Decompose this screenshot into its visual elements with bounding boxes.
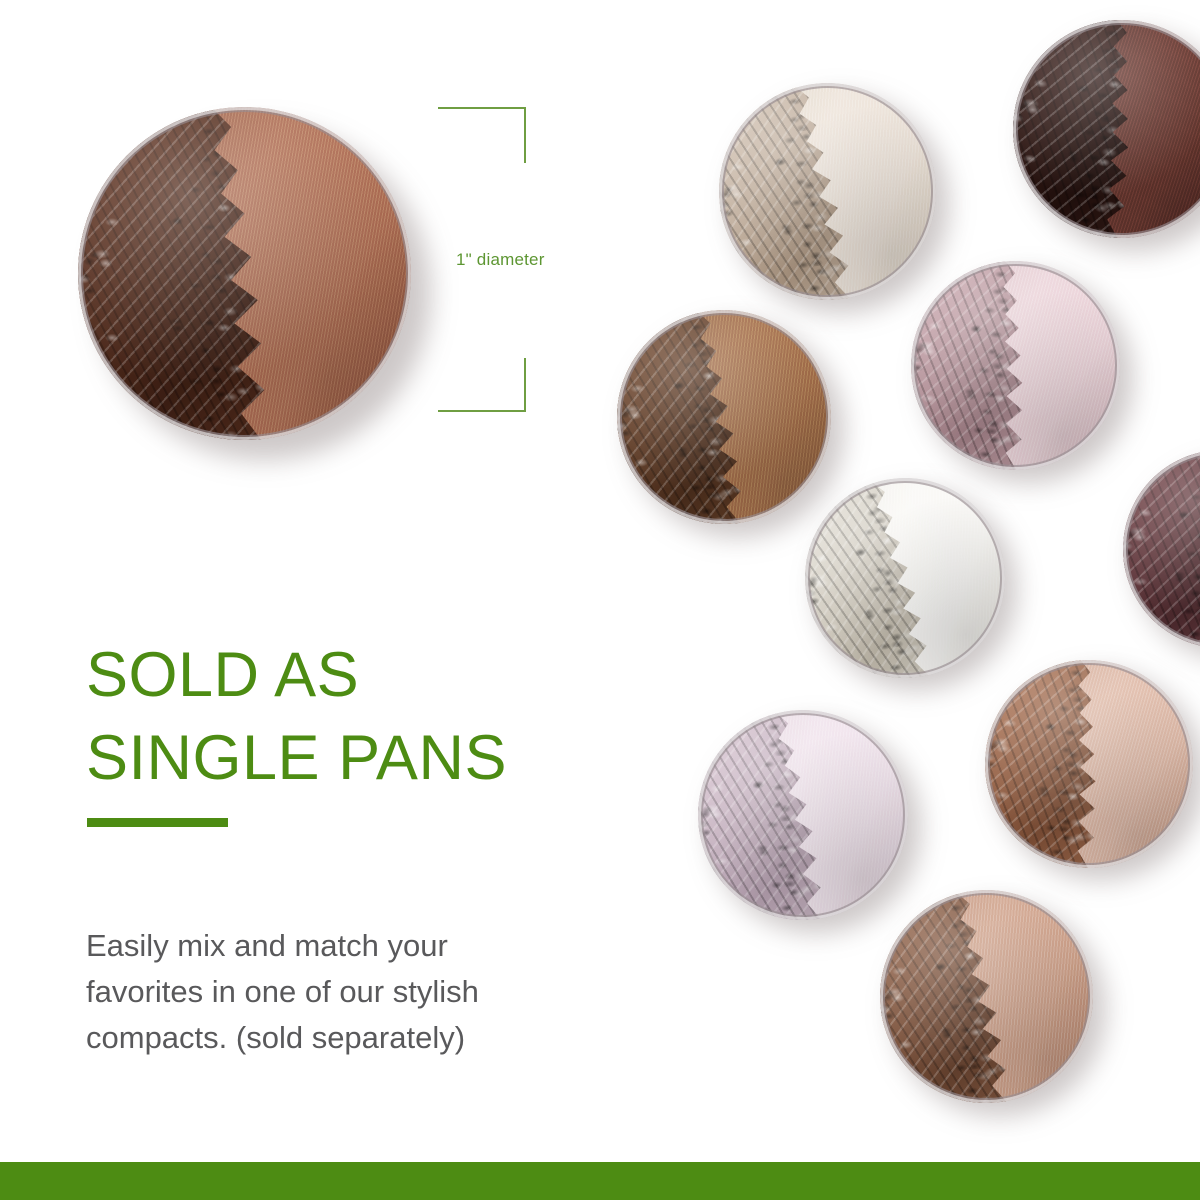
eyeshadow-pan-soft-pink [911, 261, 1120, 470]
diameter-label: 1" diameter [456, 250, 545, 270]
pan-disc [1116, 443, 1200, 654]
eyeshadow-pan-pale-lilac [698, 710, 908, 920]
eyeshadow-pan-mauve-maroon-shimmer [1123, 450, 1200, 648]
eyeshadow-pan-dark-chocolate-burgundy [1013, 20, 1200, 238]
pan-disc [999, 6, 1200, 252]
eyeshadow-pan-rose-gold-copper [985, 660, 1193, 868]
pan-disc [78, 107, 411, 440]
eyeshadow-pan-warm-nude-taupe [880, 890, 1093, 1103]
diameter-bracket-top [438, 107, 526, 163]
pan-disc [902, 252, 1128, 478]
pan-disc [871, 881, 1102, 1112]
eyeshadow-pan-copper-bronze-shimmer [78, 107, 411, 440]
page-title: SOLD AS SINGLE PANS [86, 634, 646, 800]
pan-disc [792, 465, 1018, 691]
diameter-bracket-bottom [438, 358, 526, 412]
eyeshadow-pan-ivory-cream [719, 83, 936, 300]
body-copy: Easily mix and match your favorites in o… [86, 923, 606, 1061]
pan-disc [975, 650, 1200, 879]
promo-canvas: 1" diameter SOLD AS SINGLE PANS Easily m… [0, 0, 1200, 1200]
crumbled-powder-half [1116, 443, 1200, 654]
accent-divider [87, 818, 228, 827]
eyeshadow-pan-white-matte [805, 478, 1005, 678]
footer-band [0, 1162, 1200, 1200]
